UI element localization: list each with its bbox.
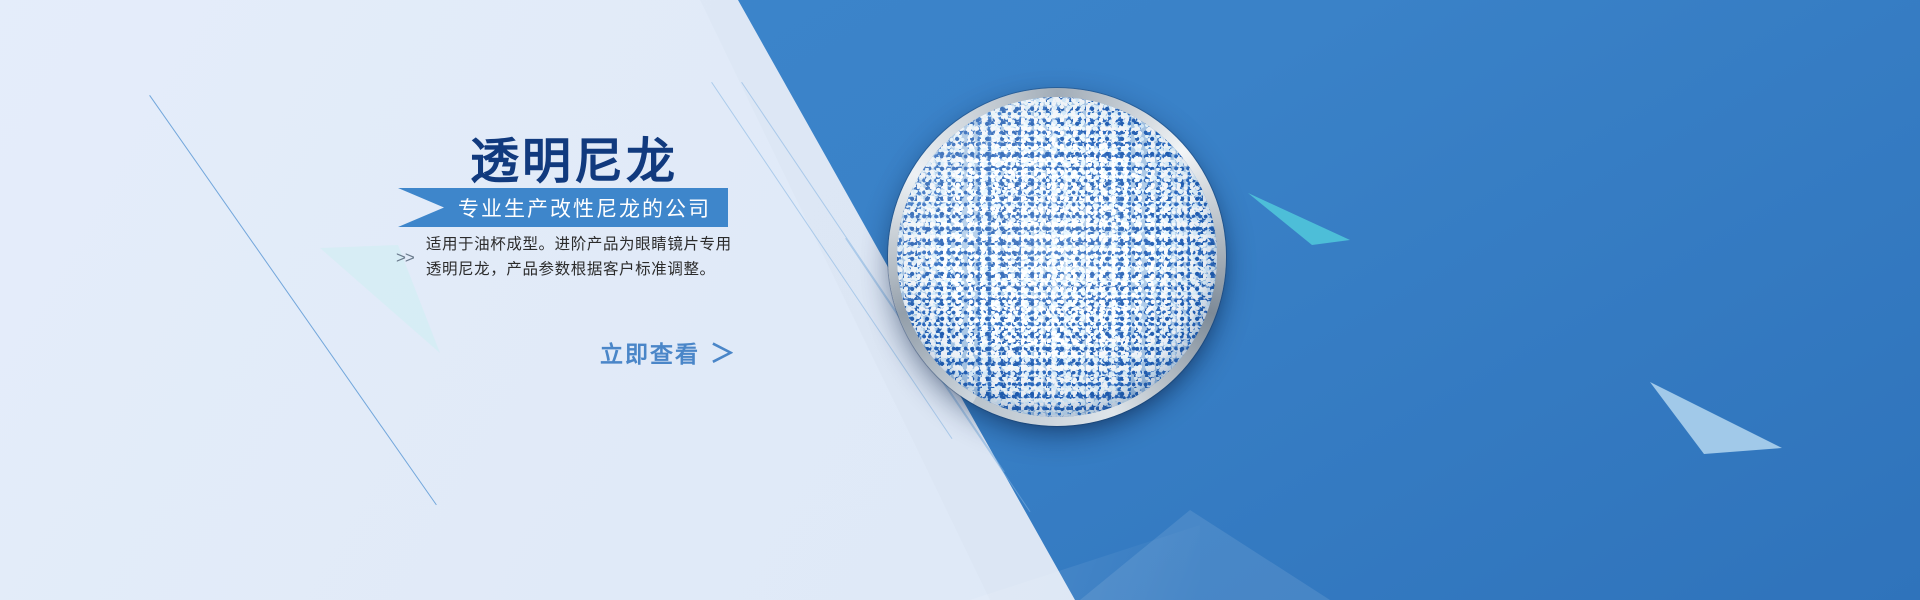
product-image-petri-dish: [888, 88, 1226, 426]
page-title: 透明尼龙: [470, 122, 678, 193]
double-chevron-icon: >>: [396, 248, 414, 268]
nylon-pellets: [897, 97, 1217, 417]
pellet-edge-fade: [897, 97, 1217, 417]
decorative-triangle-light-blue: [1620, 350, 1800, 480]
description-block: >> 适用于油杯成型。进阶产品为眼睛镜片专用 透明尼龙，产品参数根据客户标准调整…: [396, 232, 732, 282]
dish-interior: [897, 97, 1217, 417]
cta-view-now-button[interactable]: 立即查看 ＞: [600, 334, 735, 370]
chevron-right-icon: ＞: [710, 334, 735, 370]
description-text: 适用于油杯成型。进阶产品为眼睛镜片专用 透明尼龙，产品参数根据客户标准调整。: [426, 232, 732, 282]
cta-label: 立即查看: [600, 335, 700, 369]
description-line-2: 透明尼龙，产品参数根据客户标准调整。: [426, 257, 732, 282]
decorative-triangle-cyan: [1240, 185, 1390, 265]
hero-banner: 透明尼龙 专业生产改性尼龙的公司 >> 适用于油杯成型。进阶产品为眼睛镜片专用 …: [0, 0, 1920, 600]
tagline-text: 专业生产改性尼龙的公司: [458, 193, 711, 223]
description-line-1: 适用于油杯成型。进阶产品为眼睛镜片专用: [426, 232, 732, 257]
tagline-ribbon: 专业生产改性尼龙的公司: [398, 188, 728, 227]
decorative-triangle-bottom-sheen: [1080, 470, 1340, 600]
